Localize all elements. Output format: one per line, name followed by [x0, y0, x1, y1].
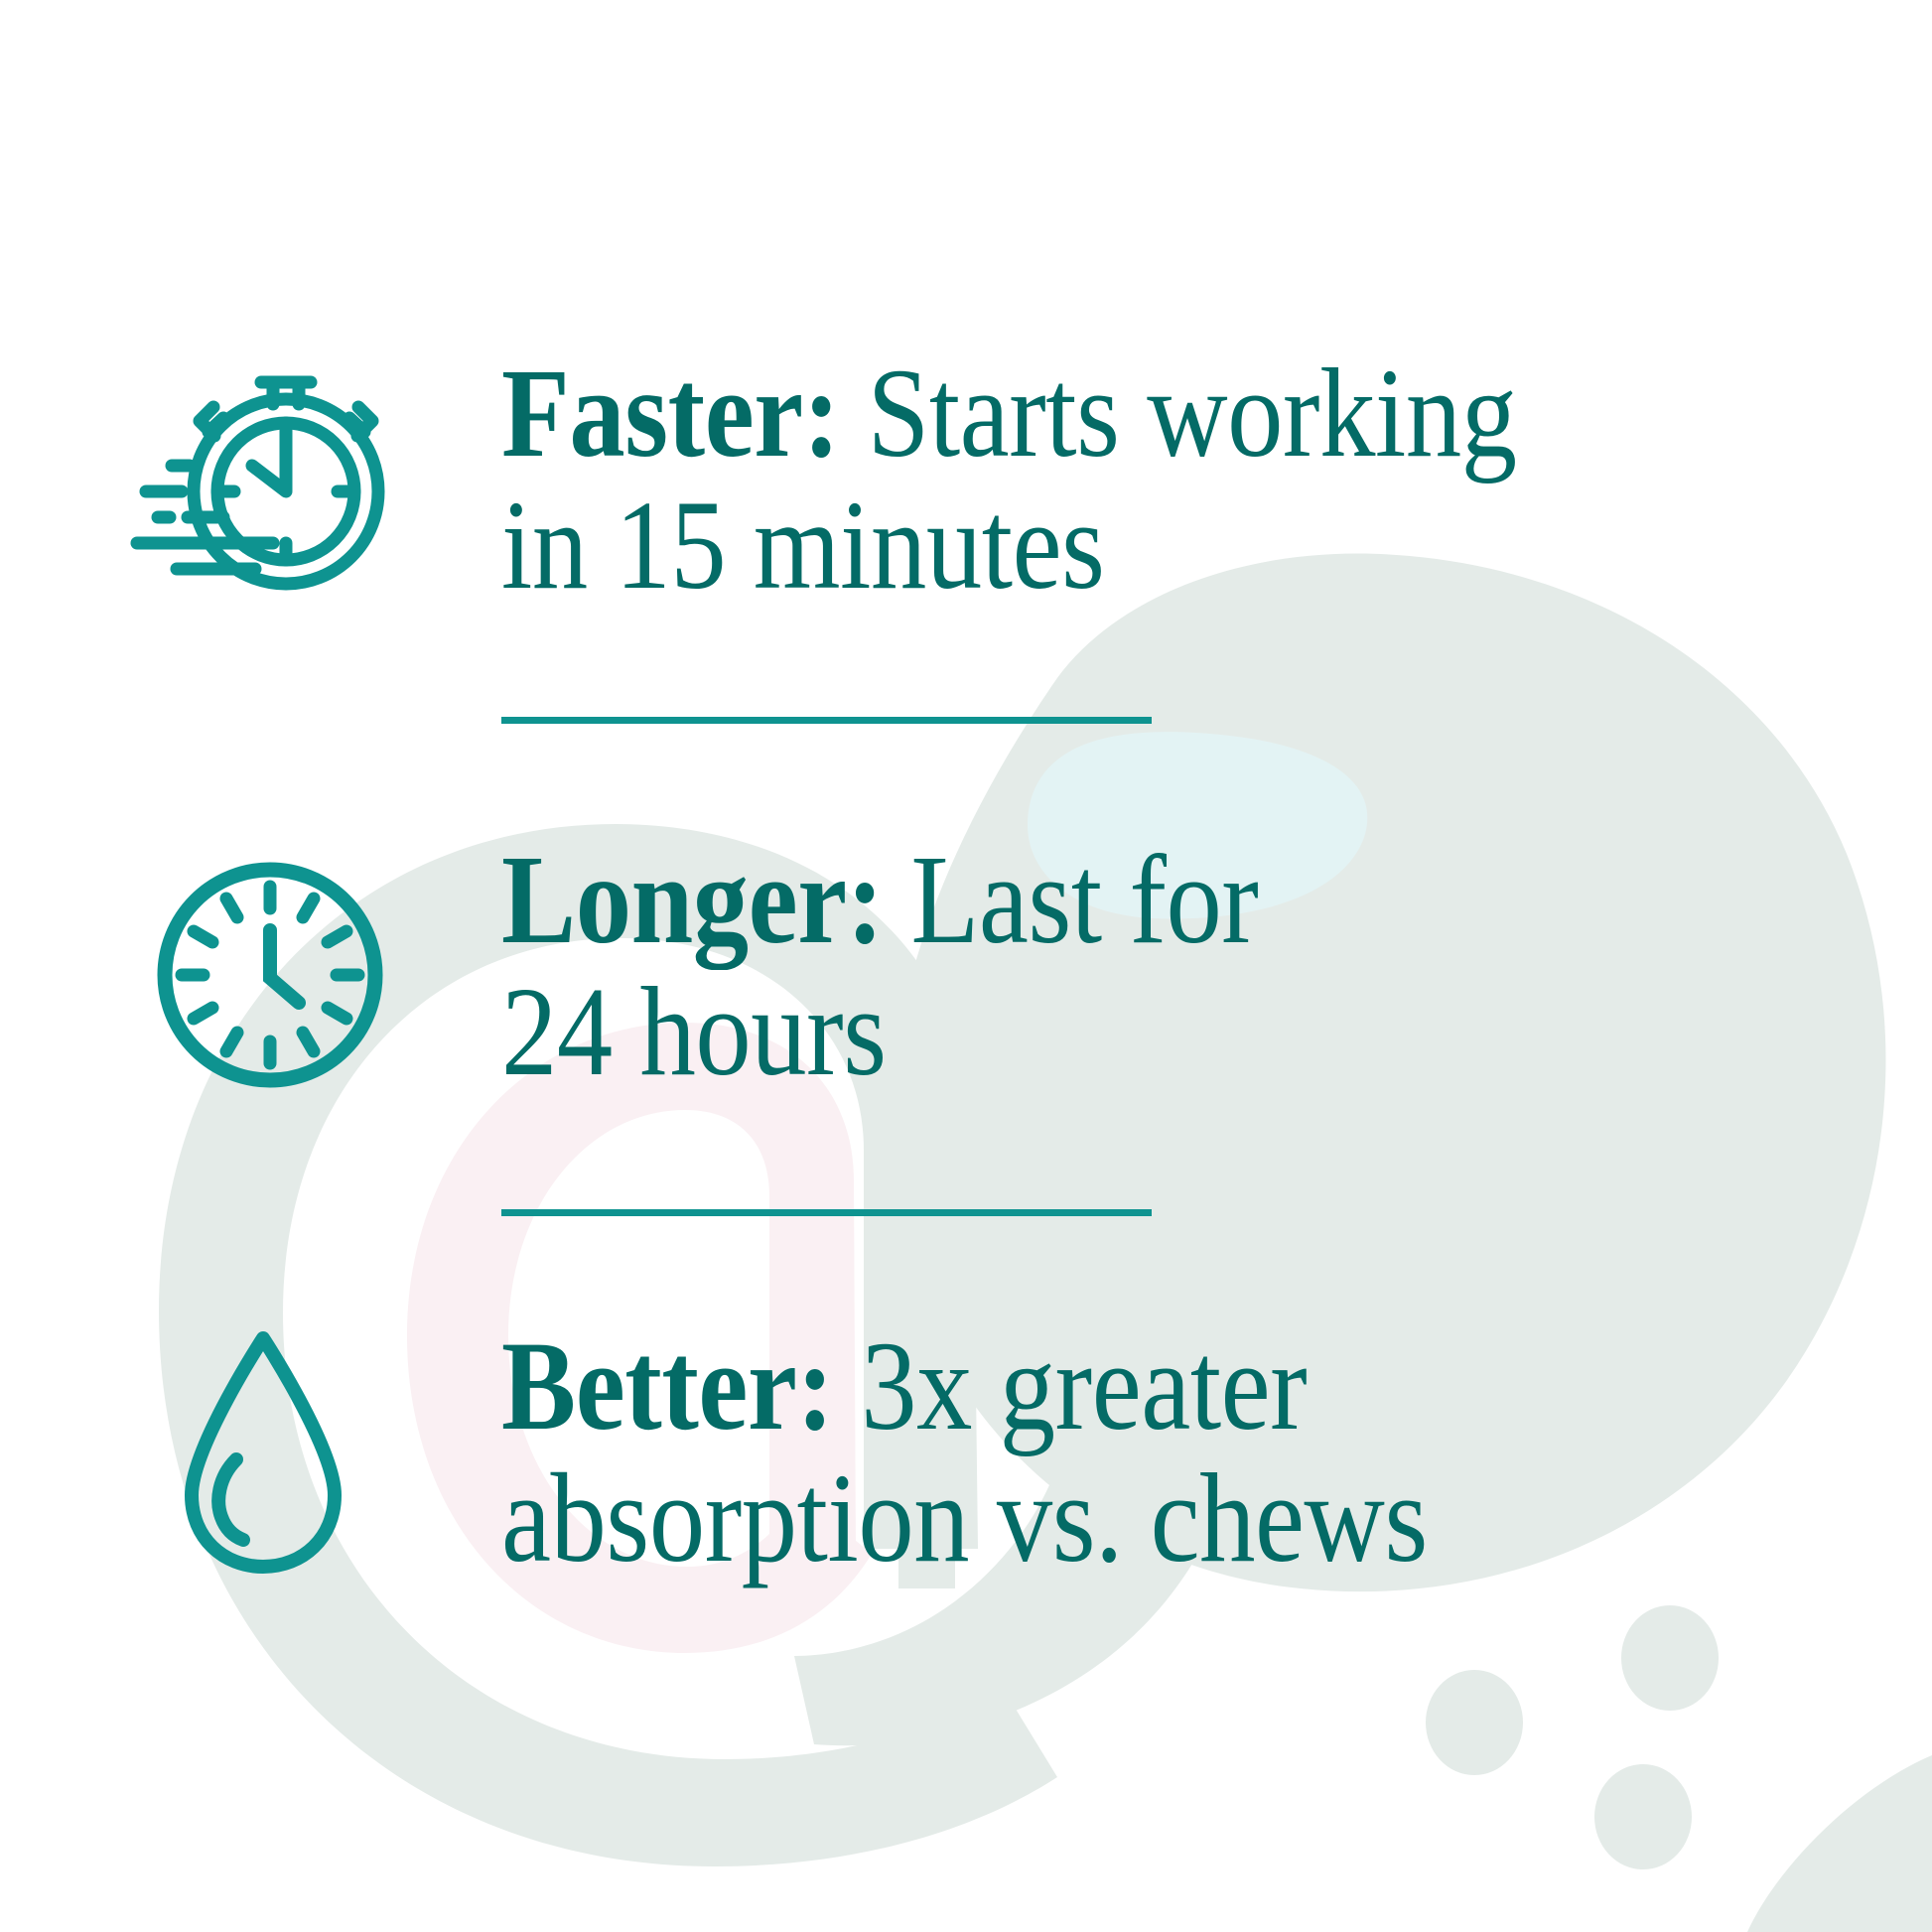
divider-1	[501, 717, 1152, 724]
feature-line-2: absorption vs. chews	[501, 1452, 1428, 1585]
stopwatch-icon	[124, 352, 387, 596]
infographic-canvas: Faster: Starts working in 15 minutes	[0, 0, 1932, 1932]
feature-text-better: Better: 3x greater absorption vs. chews	[501, 1320, 1554, 1585]
divider-2	[501, 1209, 1152, 1216]
feature-label-longer: Longer:	[501, 829, 884, 970]
water-droplet-icon	[164, 1320, 362, 1579]
feature-text-longer: Longer: Last for 24 hours	[501, 834, 1361, 1098]
feature-label-better: Better:	[501, 1315, 834, 1456]
feature-line-1: Longer: Last for	[501, 834, 1258, 966]
feature-line-1: Faster: Starts working	[501, 347, 1517, 480]
feature-line-1: Better: 3x greater	[501, 1320, 1428, 1452]
feature-list: Faster: Starts working in 15 minutes	[0, 0, 1932, 1932]
feature-line-2: 24 hours	[501, 966, 1258, 1098]
feature-line1-rest: Last for	[884, 829, 1259, 970]
feature-label-faster: Faster:	[501, 343, 840, 483]
feature-text-faster: Faster: Starts working in 15 minutes	[501, 347, 1655, 612]
feature-line1-rest: Starts working	[840, 343, 1517, 483]
clock-icon	[154, 859, 387, 1092]
feature-line-2: in 15 minutes	[501, 480, 1517, 612]
feature-line1-rest: 3x greater	[834, 1315, 1308, 1456]
